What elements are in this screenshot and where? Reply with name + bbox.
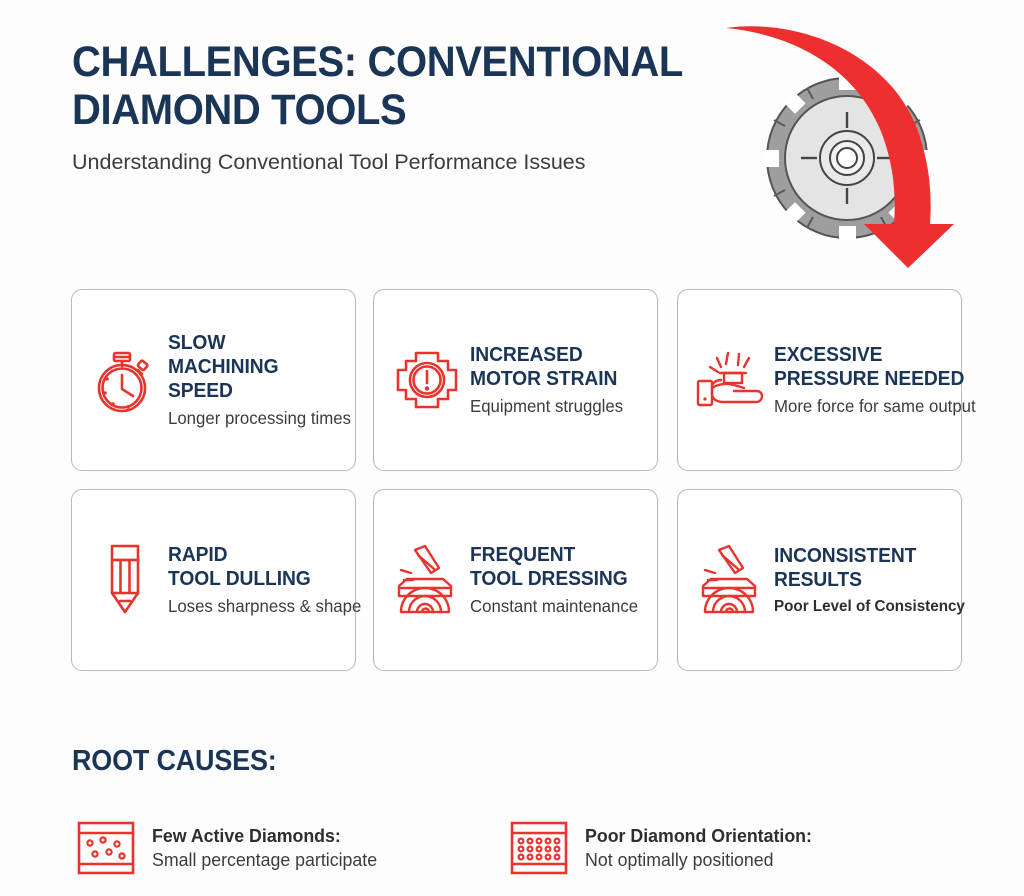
curved-down-arrow-icon [726, 26, 954, 268]
hand-pressure-icon [694, 343, 768, 417]
card-rapid-tool-dulling[interactable]: RAPID TOOL DULLING Loses sharpness & sha… [71, 489, 356, 671]
card-description: Equipment struggles [470, 396, 623, 417]
grinder-dressing-icon [694, 543, 768, 617]
card-title: INCREASED MOTOR STRAIN [470, 343, 620, 391]
root-cause-few-active-diamonds: Few Active Diamonds: Small percentage pa… [74, 818, 386, 878]
header: CHALLENGES: CONVENTIONAL DIAMOND TOOLS U… [72, 38, 732, 178]
card-description: Poor Level of Consistency [774, 597, 965, 616]
hero-graphic [718, 0, 1024, 272]
root-cause-title: Few Active Diamonds: [152, 825, 377, 847]
root-cause-title: Poor Diamond Orientation: [585, 825, 812, 847]
grinder-dressing-icon [390, 543, 464, 617]
card-description: Constant maintenance [470, 596, 638, 617]
card-slow-machining-speed[interactable]: SLOW MACHINING SPEED Longer processing t… [71, 289, 356, 471]
scattered-diamonds-icon [74, 818, 138, 878]
root-causes-heading: ROOT CAUSES: [72, 745, 277, 778]
card-description: Loses sharpness & shape [168, 596, 361, 617]
motor-warning-icon [390, 343, 464, 417]
card-description: More force for same output [774, 396, 976, 417]
stopwatch-icon [88, 343, 162, 417]
card-increased-motor-strain[interactable]: INCREASED MOTOR STRAIN Equipment struggl… [373, 289, 658, 471]
page-subtitle: Understanding Conventional Tool Performa… [72, 148, 647, 178]
card-inconsistent-results[interactable]: INCONSISTENT RESULTS Poor Level of Consi… [677, 489, 962, 671]
card-frequent-tool-dressing[interactable]: FREQUENT TOOL DRESSING Constant maintena… [373, 489, 658, 671]
diamond-saw-blade-icon [765, 76, 929, 240]
root-cause-description: Small percentage participate [152, 849, 377, 871]
card-description: Longer processing times [168, 408, 351, 429]
card-excessive-pressure[interactable]: EXCESSIVE PRESSURE NEEDED More force for… [677, 289, 962, 471]
infographic-page: CHALLENGES: CONVENTIONAL DIAMOND TOOLS U… [0, 0, 1024, 896]
grid-diamonds-icon [507, 818, 571, 878]
card-title: EXCESSIVE PRESSURE NEEDED [774, 343, 972, 391]
pencil-icon [88, 543, 162, 617]
root-cause-poor-orientation: Poor Diamond Orientation: Not optimally … [507, 818, 821, 878]
card-title: INCONSISTENT RESULTS [774, 544, 963, 592]
card-title: RAPID TOOL DULLING [168, 543, 357, 591]
card-title: SLOW MACHINING SPEED [168, 331, 347, 403]
page-title: CHALLENGES: CONVENTIONAL DIAMOND TOOLS [72, 38, 686, 134]
root-cause-description: Not optimally positioned [585, 849, 812, 871]
card-title: FREQUENT TOOL DRESSING [470, 543, 635, 591]
